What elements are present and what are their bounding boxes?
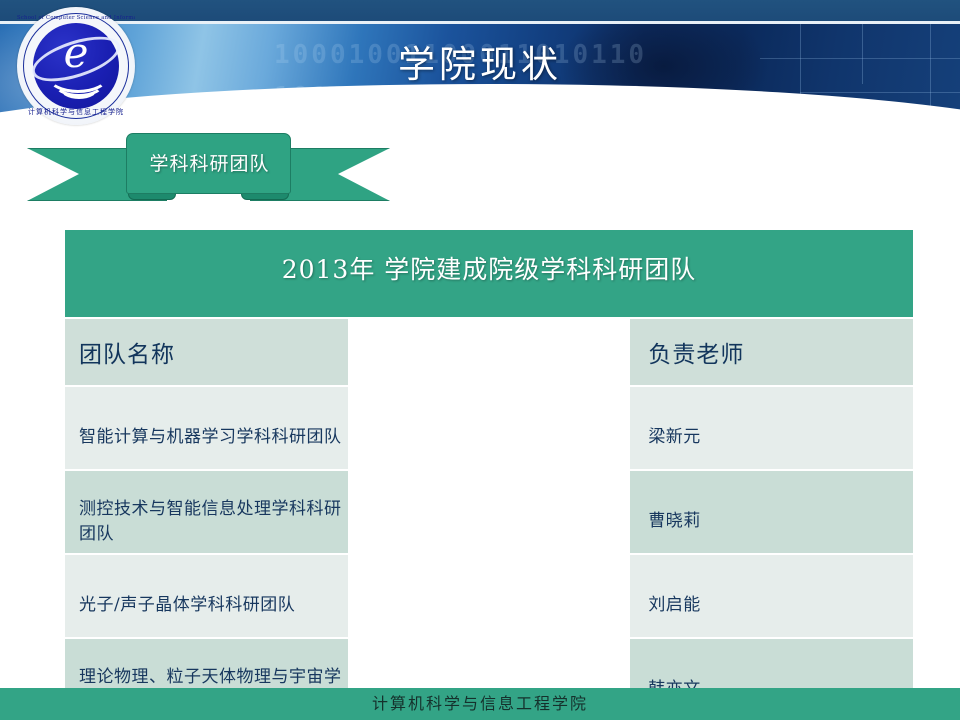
header-top-band — [0, 0, 960, 21]
table-header-row: 团队名称 负责老师 — [65, 319, 913, 385]
logo-ring-text-en: School of Computer Science and Informati… — [17, 15, 135, 21]
cell-team-name: 测控技术与智能信息处理学科科研团队 — [65, 471, 348, 553]
table-row: 智能计算与机器学习学科科研团队 梁新元 — [65, 387, 913, 469]
cell-team-name: 智能计算与机器学习学科科研团队 — [65, 387, 348, 469]
column-divider — [348, 319, 631, 385]
school-logo: School of Computer Science and Informati… — [17, 7, 135, 125]
footer-label: 计算机科学与信息工程学院 — [0, 688, 960, 720]
row-divider — [348, 471, 631, 553]
slide-footer: 计算机科学与信息工程学院 — [0, 688, 960, 720]
cell-teacher: 曹晓莉 — [630, 471, 913, 553]
row-divider — [348, 555, 631, 637]
table-row: 测控技术与智能信息处理学科科研团队 曹晓莉 — [65, 471, 913, 553]
header-gridline-horizontal-2 — [800, 92, 960, 93]
section-ribbon-banner: 学科科研团队 — [27, 133, 390, 201]
ribbon-center-panel: 学科科研团队 — [126, 133, 291, 194]
ribbon-label: 学科科研团队 — [127, 134, 292, 195]
cell-teacher: 梁新元 — [630, 387, 913, 469]
table-row: 光子/声子晶体学科科研团队 刘启能 — [65, 555, 913, 637]
teams-table-wrapper: 2013年 学院建成院级学科科研团队 团队名称 负责老师 智能计算与机器学习学科… — [65, 228, 913, 720]
page-title: 学院现状 — [0, 34, 960, 88]
cell-teacher: 刘启能 — [630, 555, 913, 637]
slide-root: 10001001100011010110 1011101000100010000… — [0, 0, 960, 720]
table-caption: 2013年 学院建成院级学科科研团队 — [65, 230, 913, 317]
row-divider — [348, 387, 631, 469]
column-header-teacher: 负责老师 — [630, 319, 913, 385]
logo-ring-text-cn: 计算机科学与信息工程学院 — [17, 107, 135, 117]
column-header-team-name: 团队名称 — [65, 319, 348, 385]
slide-header: 10001001100011010110 1011101000100010000… — [0, 0, 960, 130]
table-caption-row: 2013年 学院建成院级学科科研团队 — [65, 230, 913, 317]
teams-table: 2013年 学院建成院级学科科研团队 团队名称 负责老师 智能计算与机器学习学科… — [65, 228, 913, 720]
cell-team-name: 光子/声子晶体学科科研团队 — [65, 555, 348, 637]
